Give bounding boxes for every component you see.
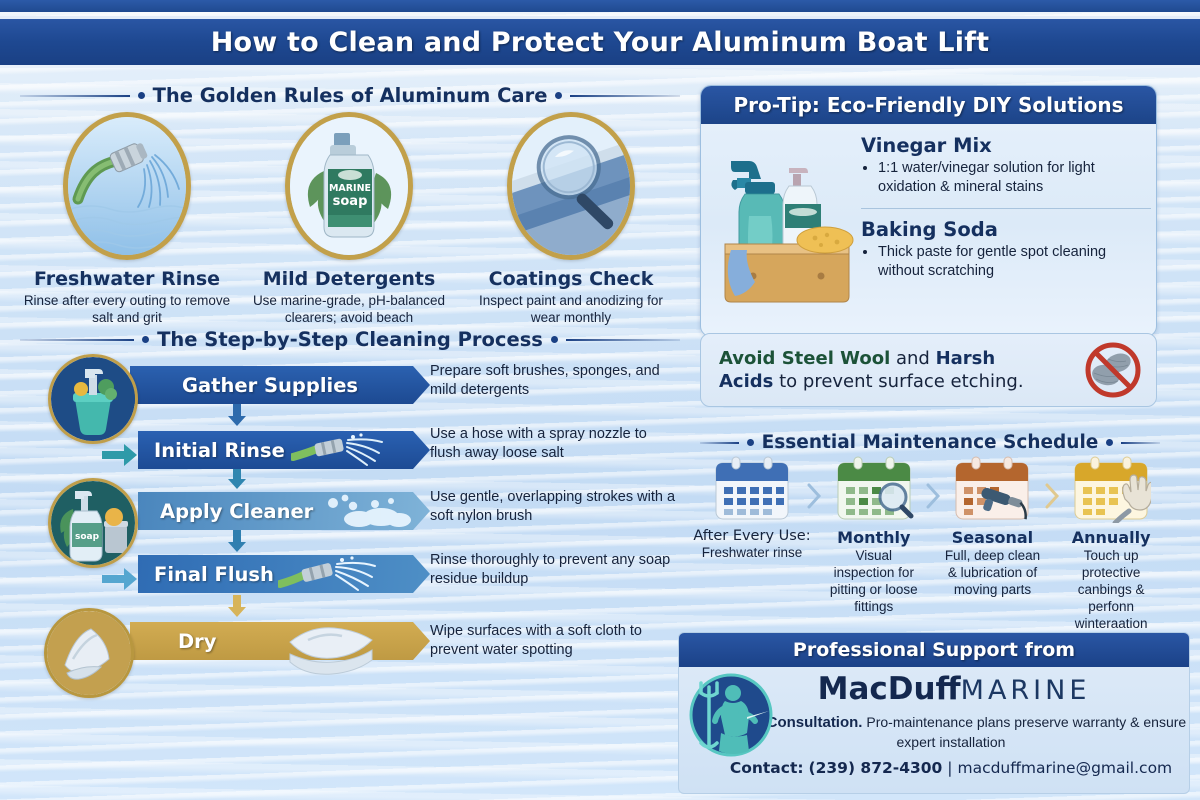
pro-tip-bullet: 1:1 water/vinegar solution for light oxi… xyxy=(878,159,1151,197)
heading-rule-left xyxy=(20,339,134,341)
contact-phone[interactable]: (239) 872-4300 xyxy=(809,759,943,777)
pro-tip-list: Vinegar Mix 1:1 water/vinegar solution f… xyxy=(861,134,1151,280)
calendar-brown-grease-gun-icon xyxy=(952,455,1032,523)
no-steel-wool-icon xyxy=(1084,341,1142,399)
cleaner-spray-bottle-icon: soap xyxy=(48,478,138,568)
schedule-item-title: After Every Use: xyxy=(693,528,810,544)
section-heading-schedule: Essential Maintenance Schedule xyxy=(700,432,1160,453)
chevron-right-icon xyxy=(925,483,941,509)
schedule-item-desc: Visual inspection for pitting or loose f… xyxy=(825,548,923,616)
schedule-item-title: Annually xyxy=(1072,528,1151,547)
title-bar: How to Clean and Protect Your Aluminum B… xyxy=(0,16,1200,68)
schedule-item-desc: Full, deep clean & lubrication of moving… xyxy=(944,548,1042,599)
schedule-item-title: Seasonal xyxy=(952,528,1033,547)
schedule-item-seasonal: Seasonal Full, deep clean & lubrication … xyxy=(944,455,1042,632)
golden-rule-desc: Inspect paint and anodizing for wear mon… xyxy=(464,293,678,327)
page-title: How to Clean and Protect Your Aluminum B… xyxy=(211,27,990,58)
schedule-item-title: Monthly xyxy=(837,528,910,547)
process-step-apply-cleaner: soap Apply Cleaner Us xyxy=(20,486,685,544)
schedule-chevron-2 xyxy=(925,455,942,632)
heading-dot-left xyxy=(142,336,149,343)
maintenance-schedule-list: After Every Use: Freshwater rinse xyxy=(700,455,1160,632)
pro-tip-bullets: 1:1 water/vinegar solution for light oxi… xyxy=(861,159,1151,197)
heading-dot-right xyxy=(555,92,562,99)
dry-cloth-icon xyxy=(44,608,134,698)
step-ribbon: Gather Supplies xyxy=(130,366,430,404)
heading-rule-right xyxy=(566,339,680,341)
section-heading-text: The Step-by-Step Cleaning Process xyxy=(157,328,543,351)
golden-rules-list: Freshwater Rinse Rinse after every outin… xyxy=(20,112,680,327)
step-label: Initial Rinse xyxy=(138,439,285,462)
schedule-item-after-every-use: After Every Use: Freshwater rinse xyxy=(700,455,804,632)
golden-rule-desc: Use marine-grade, pH-balanced clearers; … xyxy=(242,293,456,327)
step-label: Apply Cleaner xyxy=(138,500,313,523)
footer-professional-support: Professional Support from MacDuffMARINE … xyxy=(678,632,1190,794)
step-label: Final Flush xyxy=(138,563,274,586)
warning-box-avoid-steel-wool: Avoid Steel Wool and Harsh Acids to prev… xyxy=(700,333,1157,407)
pro-tip-block-vinegar-mix: Vinegar Mix 1:1 water/vinegar solution f… xyxy=(861,134,1151,197)
footer-banner: Professional Support from xyxy=(679,633,1189,667)
contact-separator: | xyxy=(947,759,952,777)
schedule-item-monthly: Monthly Visual inspection for pitting or… xyxy=(825,455,923,632)
golden-rule-desc: Rinse after every outing to remove salt … xyxy=(20,293,234,327)
flow-arrow-right-icon xyxy=(102,443,138,467)
magnifying-glass-icon xyxy=(507,112,635,260)
step-ribbon: Apply Cleaner xyxy=(138,492,430,530)
marine-soap-bottle-icon: MARINE soap xyxy=(285,112,413,260)
process-step-gather-supplies: Gather Supplies Prepare soft brushes, sp… xyxy=(20,358,685,420)
section-heading-text: Essential Maintenance Schedule xyxy=(762,432,1099,453)
step-ribbon: Dry xyxy=(130,622,430,660)
heading-dot-left xyxy=(747,439,754,446)
section-heading-text: The Golden Rules of Aluminum Care xyxy=(153,84,548,107)
cleaning-toolbox-icon xyxy=(705,130,865,320)
process-step-dry: Dry Wipe surfaces with a soft cloth to p… xyxy=(20,614,685,676)
schedule-item-desc: Freshwater rinse xyxy=(702,545,803,562)
hose-nozzle-icon xyxy=(278,556,382,592)
brand-name-bold: MacDuff xyxy=(818,671,961,707)
golden-rule-card-freshwater-rinse: Freshwater Rinse Rinse after every outin… xyxy=(20,112,234,327)
suds-bubbles-icon xyxy=(319,493,419,529)
hose-nozzle-icon xyxy=(291,433,387,467)
step-description: Rinse thoroughly to prevent any soap res… xyxy=(430,551,680,589)
golden-rule-title: Freshwater Rinse xyxy=(34,268,220,290)
pro-tip-bullets: Thick paste for gentle spot cleaning wit… xyxy=(861,243,1151,281)
infographic-canvas: How to Clean and Protect Your Aluminum B… xyxy=(0,0,1200,800)
step-ribbon: Final Flush xyxy=(138,555,430,593)
folded-towel-icon xyxy=(282,620,382,678)
pro-tip-block-title: Baking Soda xyxy=(861,218,1151,241)
pro-tip-body: Vinegar Mix 1:1 water/vinegar solution f… xyxy=(701,124,1156,336)
heading-dot-right xyxy=(1106,439,1113,446)
warning-text: Avoid Steel Wool and Harsh Acids to prev… xyxy=(719,347,1039,394)
pro-tip-block-title: Vinegar Mix xyxy=(861,134,1151,157)
golden-rule-title: Coatings Check xyxy=(489,268,654,290)
bottle-label-line1: MARINE xyxy=(329,183,371,194)
section-heading-golden-rules: The Golden Rules of Aluminum Care xyxy=(20,84,680,107)
top-accent-band xyxy=(0,0,1200,12)
process-step-list: Gather Supplies Prepare soft brushes, sp… xyxy=(20,358,685,681)
step-description: Use gentle, overlapping strokes with a s… xyxy=(430,488,680,526)
heading-rule-right xyxy=(1121,442,1160,444)
bottle-label-line2: soap xyxy=(333,194,368,209)
pro-tip-block-baking-soda: Baking Soda Thick paste for gentle spot … xyxy=(861,218,1151,281)
warning-bold-steel-wool: Avoid Steel Wool xyxy=(719,348,890,369)
calendar-blue-icon xyxy=(712,455,792,523)
step-description: Use a hose with a spray nozzle to flush … xyxy=(430,425,680,463)
step-description: Wipe surfaces with a soft cloth to preve… xyxy=(430,622,670,660)
svg-text:soap: soap xyxy=(75,532,100,542)
heading-rule-right xyxy=(570,95,680,97)
heading-dot-left xyxy=(138,92,145,99)
section-heading-process: The Step-by-Step Cleaning Process xyxy=(20,328,680,351)
golden-rule-title: Mild Detergents xyxy=(263,268,436,290)
schedule-chevron-3 xyxy=(1043,455,1060,632)
golden-rule-card-coatings-check: Coatings Check Inspect paint and anodizi… xyxy=(464,112,678,327)
calendar-green-magnifier-icon xyxy=(834,455,914,523)
supplies-bucket-icon xyxy=(48,354,138,444)
footer-contact-line: Contact: (239) 872-4300 | macduffmarine@… xyxy=(679,759,1189,777)
heading-rule-left xyxy=(700,442,739,444)
schedule-item-desc: Touch up protective canbings & perfonn w… xyxy=(1062,548,1160,632)
footer-banner-text: Professional Support from xyxy=(793,639,1075,661)
pro-tip-divider xyxy=(861,208,1151,209)
pro-tip-header: Pro-Tip: Eco-Friendly DIY Solutions xyxy=(701,86,1156,124)
pro-tip-title: Pro-Tip: Eco-Friendly DIY Solutions xyxy=(733,93,1123,117)
chevron-right-icon xyxy=(806,483,822,509)
chevron-right-icon xyxy=(1044,483,1060,509)
flow-arrow-down-icon xyxy=(224,467,250,489)
contact-label: Contact: xyxy=(730,759,804,777)
contact-email[interactable]: macduffmarine@gmail.com xyxy=(957,759,1172,777)
flow-arrow-down-icon xyxy=(224,404,250,426)
footer-tagline-rest: Pro-maintenance plans preserve warranty … xyxy=(862,714,1186,750)
golden-rule-card-mild-detergents: MARINE soap Mild Detergents Use marine-g… xyxy=(242,112,456,327)
flow-arrow-down-icon xyxy=(224,595,250,617)
calendar-yellow-hand-icon xyxy=(1071,455,1151,523)
step-label: Gather Supplies xyxy=(130,374,358,397)
heading-dot-right xyxy=(551,336,558,343)
step-description: Prepare soft brushes, sponges, and mild … xyxy=(430,362,680,400)
schedule-item-annually: Annually Touch up protective canbings & … xyxy=(1062,455,1160,632)
pro-tip-panel: Pro-Tip: Eco-Friendly DIY Solutions xyxy=(700,85,1157,337)
step-label: Dry xyxy=(130,630,217,653)
brand-name-light: MARINE xyxy=(961,675,1091,706)
warning-mid: and xyxy=(890,348,935,369)
flow-arrow-right-icon xyxy=(102,567,138,591)
hose-spray-icon xyxy=(63,112,191,260)
flow-arrow-down-icon xyxy=(224,530,250,552)
heading-rule-left xyxy=(20,95,130,97)
step-ribbon: Initial Rinse xyxy=(138,431,430,469)
poseidon-trident-logo xyxy=(689,673,773,757)
warning-tail: to prevent surface etching. xyxy=(773,371,1023,392)
schedule-chevron-1 xyxy=(806,455,823,632)
pro-tip-bullet: Thick paste for gentle spot cleaning wit… xyxy=(878,243,1151,281)
